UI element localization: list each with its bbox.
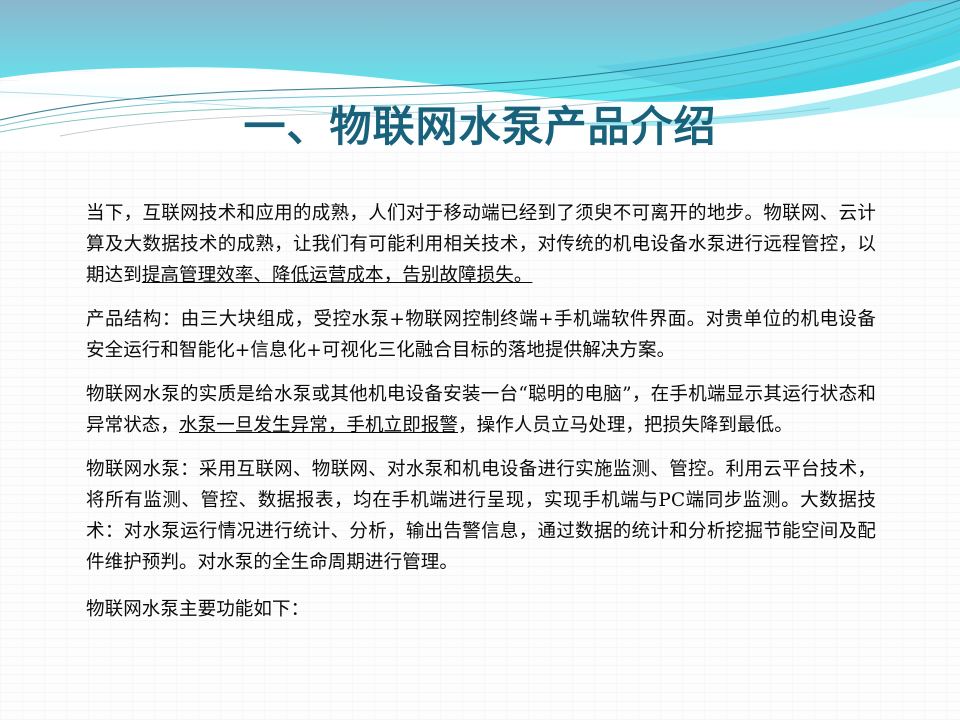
header-wave-decoration: [0, 0, 960, 200]
paragraph-2-text: 产品结构：由三大块组成，受控水泵+物联网控制终端+手机端软件界面。对贵单位的机电…: [86, 309, 876, 361]
paragraph-1: 当下，互联网技术和应用的成熟，人们对于移动端已经到了须臾不可离开的地步。物联网、…: [86, 198, 876, 291]
paragraph-5: 物联网水泵主要功能如下：: [86, 594, 876, 625]
paragraph-4-text: 物联网水泵：采用互联网、物联网、对水泵和机电设备进行实施监测、管控。利用云平台技…: [86, 459, 876, 573]
paragraph-3-tail: ，操作人员立马处理，把损失降到最低。: [458, 415, 793, 436]
page-title: 一、物联网水泵产品介绍: [243, 104, 716, 149]
slide-body: 当下，互联网技术和应用的成熟，人们对于移动端已经到了须臾不可离开的地步。物联网、…: [86, 198, 876, 625]
paragraph-2: 产品结构：由三大块组成，受控水泵+物联网控制终端+手机端软件界面。对贵单位的机电…: [86, 304, 876, 366]
paragraph-4: 物联网水泵：采用互联网、物联网、对水泵和机电设备进行实施监测、管控。利用云平台技…: [86, 454, 876, 578]
paragraph-3-underlined: 水泵一旦发生异常，手机立即报警: [179, 415, 458, 436]
title-block: 一、物联网水泵产品介绍: [0, 104, 960, 149]
presentation-slide: 一、物联网水泵产品介绍 当下，互联网技术和应用的成熟，人们对于移动端已经到了须臾…: [0, 0, 960, 720]
paragraph-5-text: 物联网水泵主要功能如下：: [86, 599, 309, 620]
paragraph-1-underlined: 提高管理效率、降低运营成本，告别故障损失。: [142, 265, 533, 286]
paragraph-3: 物联网水泵的实质是给水泵或其他机电设备安装一台“聪明的电脑”，在手机端显示其运行…: [86, 379, 876, 441]
